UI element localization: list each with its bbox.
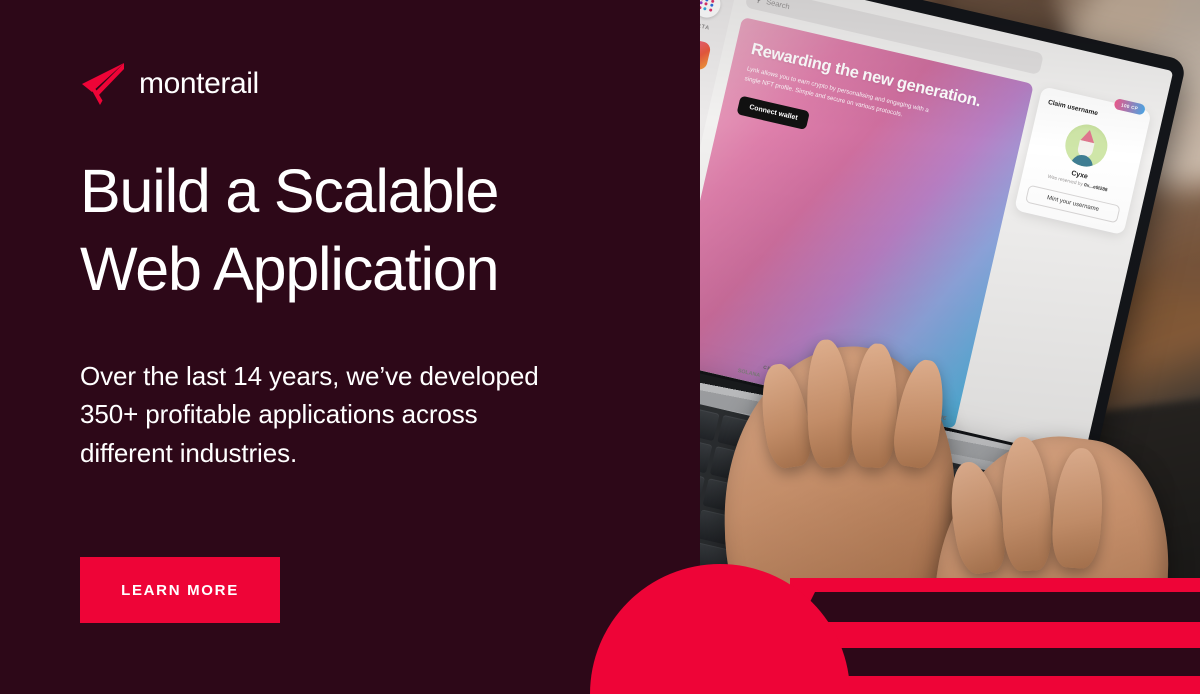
subcopy-line-3: different industries. (80, 434, 660, 472)
reserved-address: 0x...e9I288 (1083, 183, 1108, 193)
subcopy: Over the last 14 years, we’ve developed … (80, 357, 660, 472)
left-hand-fingers (759, 328, 974, 468)
banner-content: monterail Build a Scalable Web Applicati… (0, 0, 700, 694)
monterail-wing-mark-icon (80, 62, 126, 106)
gnome-avatar (1061, 120, 1111, 170)
claim-username-card: 100 CP Claim username Cyxe Was reserved … (1014, 86, 1152, 235)
search-placeholder: Search (766, 0, 791, 11)
brand-logo[interactable]: monterail (80, 62, 259, 106)
sidebar-item-home[interactable]: ⌂ (700, 37, 712, 71)
laptop: BETA ⌂ ▣ ⚡ ⚲ (700, 0, 1200, 694)
chain-logo-solana: SOLANA (737, 368, 761, 379)
promo-banner: BETA ⌂ ▣ ⚡ ⚲ (0, 0, 1200, 694)
headline-line-2: Web Application (80, 230, 680, 308)
hero-photo: BETA ⌂ ▣ ⚡ ⚲ (700, 0, 1200, 694)
points-badge: 100 CP (1113, 98, 1146, 116)
claim-username: Cyxe (1071, 170, 1089, 181)
right-hand-fingers (947, 404, 1155, 574)
search-icon: ⚲ (755, 0, 763, 4)
dot-grid-logo-icon (700, 0, 723, 20)
subcopy-line-2: 350+ profitable applications across (80, 395, 660, 433)
learn-more-button[interactable]: LEARN MORE (80, 557, 280, 623)
subcopy-line-1: Over the last 14 years, we’ve developed (80, 357, 660, 395)
connect-wallet-button[interactable]: Connect wallet (737, 95, 811, 130)
sidebar-item-wallet[interactable]: ▣ (700, 71, 704, 105)
claim-card-title: Claim username (1047, 99, 1098, 117)
page-title: Build a Scalable Web Application (80, 152, 680, 308)
brand-name: monterail (139, 67, 259, 101)
beta-label: BETA (700, 22, 710, 32)
headline-line-1: Build a Scalable (80, 152, 680, 230)
